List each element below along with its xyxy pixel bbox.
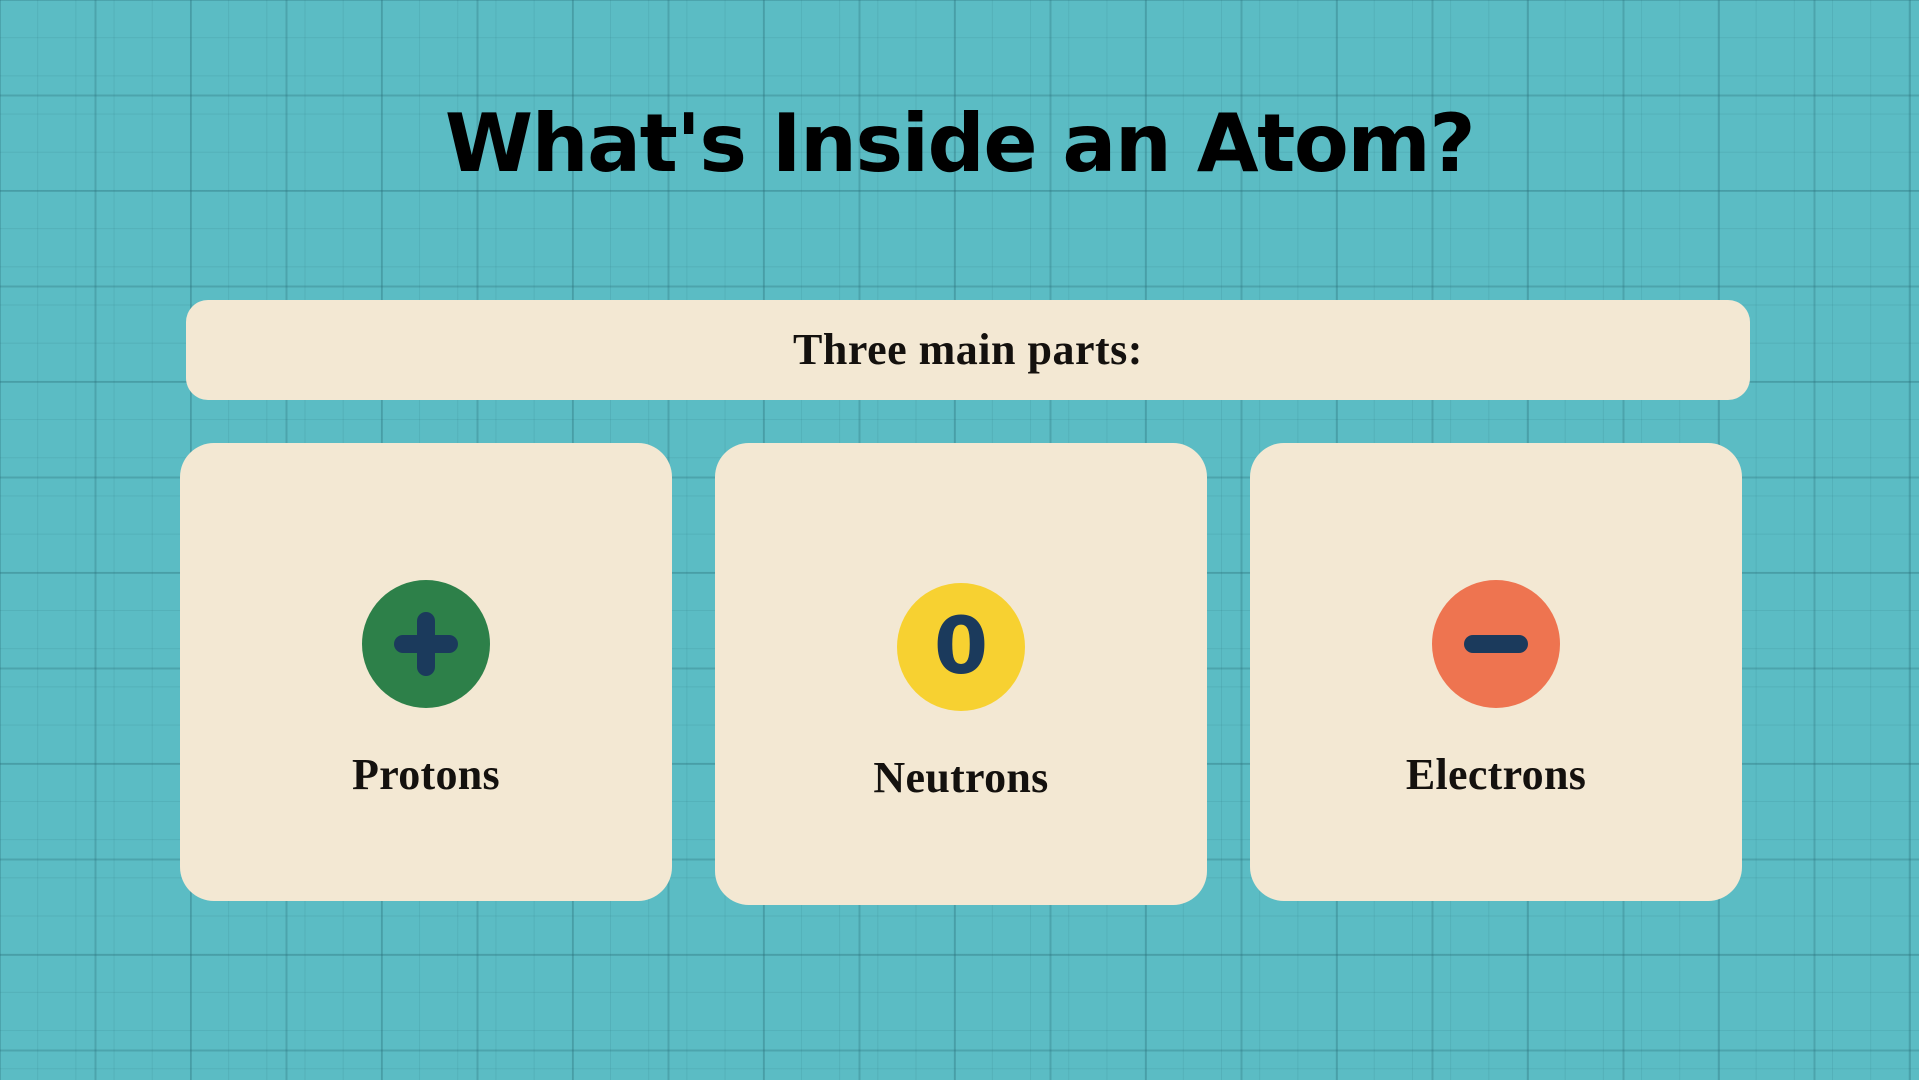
particle-card-row: Protons 0 Neutrons Electrons bbox=[180, 443, 1742, 905]
particle-card-electrons[interactable]: Electrons bbox=[1250, 443, 1742, 901]
particle-card-label-protons: Protons bbox=[180, 749, 672, 801]
slide-canvas: What's Inside an Atom? Three main parts:… bbox=[0, 0, 1919, 1080]
minus-icon bbox=[1432, 580, 1560, 708]
zero-icon: 0 bbox=[897, 583, 1025, 711]
subtitle-banner-label: Three main parts: bbox=[793, 325, 1143, 375]
page-title: What's Inside an Atom? bbox=[0, 96, 1919, 192]
particle-card-label-neutrons: Neutrons bbox=[715, 752, 1207, 804]
zero-icon-glyph: 0 bbox=[934, 608, 988, 686]
particle-card-label-electrons: Electrons bbox=[1250, 749, 1742, 801]
subtitle-banner: Three main parts: bbox=[186, 300, 1750, 400]
plus-icon bbox=[362, 580, 490, 708]
particle-card-protons[interactable]: Protons bbox=[180, 443, 672, 901]
particle-card-neutrons[interactable]: 0 Neutrons bbox=[715, 443, 1207, 905]
